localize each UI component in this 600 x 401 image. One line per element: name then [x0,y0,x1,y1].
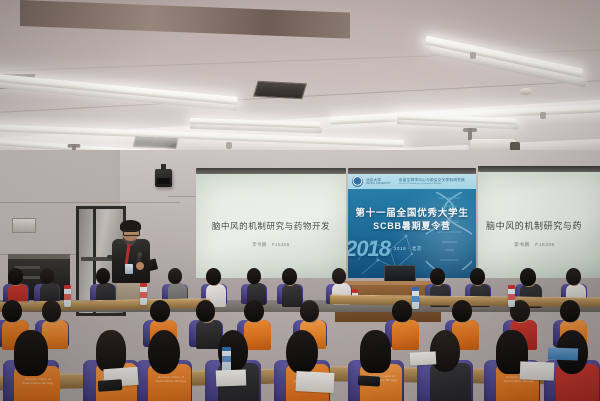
org-name-en: PEKING UNIVERSITY [366,183,391,185]
glasses-icon [123,230,140,236]
audience-hair [300,300,319,322]
water-bottle [508,288,515,307]
bottle-label [140,292,147,298]
audience-hair [360,330,391,373]
shirt-print: Summer Camp of Quantitative Biology [150,375,192,383]
audience-hair [566,268,581,285]
audience-hair [244,300,264,322]
bottle-cap [140,283,147,287]
center-event-banner: 北京大学 PEKING UNIVERSITY 定量生物学中心与前沿交叉学科研究院… [348,168,476,278]
audience-hair [8,268,23,285]
smoke-detector-icon [520,88,532,95]
screen-surface: 脑中风的机制研究与药物开发 李书鹏 FJS308 [196,174,346,278]
bottle-cap [412,287,419,291]
bottle-cap [222,347,231,351]
slide-title: 脑中风的机制研究与药 [486,219,600,232]
audience-hair [282,268,297,285]
bottle-cap [508,285,515,289]
screen-surface: 脑中风的机制研究与药 李书鹏 FJS308 [478,172,600,278]
audience-hair [470,268,485,285]
banner-surface: 北京大学 PEKING UNIVERSITY 定量生物学中心与前沿交叉学科研究院… [348,174,476,278]
cabinet-top [8,254,70,259]
left-projection-screen: 脑中风的机制研究与药物开发 李书鹏 FJS308 [196,168,346,278]
audience-hair [150,300,170,322]
banner-year: 2018 [348,236,390,262]
audience-hair [286,330,318,374]
handout-paper [216,369,247,386]
ceiling-mount-nub [226,142,232,149]
lecture-hall-photo: 脑中风的机制研究与药物开发 李书鹏 FJS308 [0,0,600,401]
audience-hair [168,268,182,284]
smartphone [98,379,123,392]
peking-university-logo-icon [352,176,363,187]
audience-hair [430,268,445,285]
banner-headline-line1: 第十一届全国优秀大学生 [348,205,476,219]
right-projection-screen: 脑中风的机制研究与药 李书鹏 FJS308 [478,166,600,278]
handout-paper [296,371,335,393]
audience-hair [14,330,48,376]
audience-hair [560,300,580,322]
wall-loudspeaker [155,169,172,187]
audience-hair [206,268,221,285]
bottle-label [412,296,419,302]
audience-hair [520,268,536,286]
banner-headline-line2: SCBB暑期夏令营 [348,219,476,232]
smartphone [358,375,380,386]
water-bottle [64,288,71,307]
slide-subtitle: 李书鹏 FJS308 [196,242,346,248]
banner-date-place: 2018 · 北京 [394,246,422,252]
wall-control-panel[interactable] [12,218,36,233]
audience-hair [392,300,412,322]
audience-hair [196,300,215,322]
speaker-grille [157,178,170,184]
ceiling-mount-nub [540,112,546,119]
wall-seam [0,202,180,203]
audience-hair [96,268,110,284]
speaker-bracket [161,164,166,170]
slide-title: 脑中风的机制研究与药物开发 [196,220,346,232]
banner-header-strip: 北京大学 PEKING UNIVERSITY 定量生物学中心与前沿交叉学科研究院… [348,174,476,189]
notebook [548,347,578,360]
audience-hair [452,300,472,322]
handout-paper [520,361,555,380]
water-bottle [412,290,419,309]
audience-hair [42,300,61,322]
audience-hair [148,330,180,374]
ceiling-mount-nub [470,52,476,59]
audience-hair [96,330,126,372]
institute-name-en: Center & Institute for Quantitative Biol… [399,183,465,185]
bottle-label [508,294,515,300]
audience-hair [332,268,346,284]
ceiling-open-panel [20,0,350,39]
ceiling-vent [253,81,307,100]
handout-paper [410,351,437,365]
shirt-print: Summer Camp of Quantitative Biology [16,377,60,385]
audience-hair [40,268,54,284]
bottle-cap [64,285,71,289]
water-bottle [140,286,147,305]
bottle-label [64,294,71,300]
bottle-label [222,356,231,362]
slide-subtitle: 李书鹏 FJS308 [514,241,600,248]
audience-hair [247,268,261,284]
audience-hair [2,300,22,322]
